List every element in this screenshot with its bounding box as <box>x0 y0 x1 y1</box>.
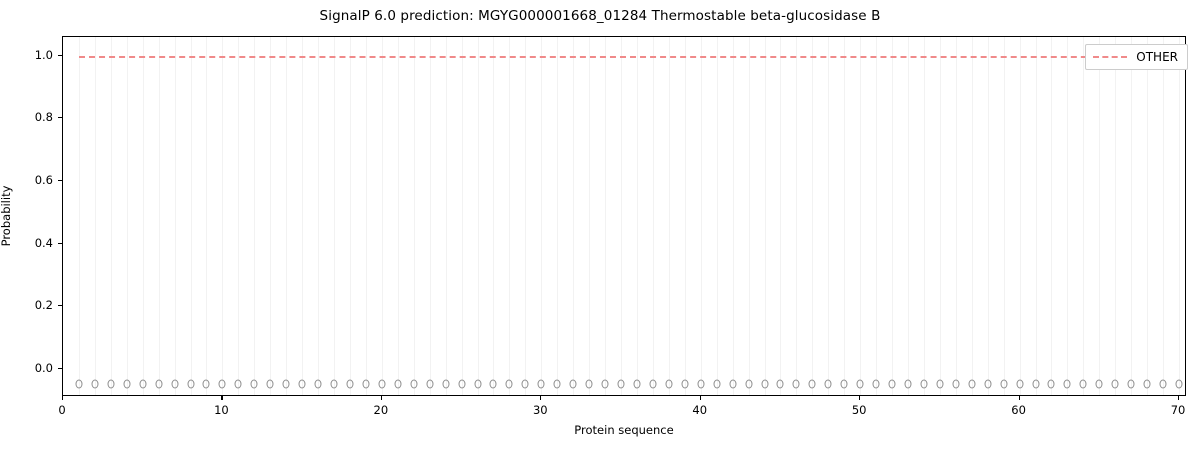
gridline <box>254 37 255 395</box>
residue-label: Y <box>107 393 114 396</box>
residue-label: L <box>172 393 178 396</box>
residue-label: L <box>809 393 815 396</box>
y-tick-label: 0.0 <box>0 361 53 375</box>
gridline <box>557 37 558 395</box>
residue-label: K <box>825 393 832 396</box>
residue-label: G <box>394 393 403 396</box>
residue-label: F <box>458 393 464 396</box>
residue-label: S <box>474 393 481 396</box>
residue-marker <box>1000 380 1007 389</box>
series-line-other <box>79 56 1177 58</box>
gridline <box>222 37 223 395</box>
x-axis-label: Protein sequence <box>62 423 1186 437</box>
residue-marker <box>602 380 609 389</box>
residue-marker <box>745 380 752 389</box>
residue-label: T <box>841 393 848 396</box>
residue-marker <box>1160 380 1167 389</box>
gridline <box>605 37 606 395</box>
residue-label: P <box>984 393 991 396</box>
residue-marker <box>729 380 736 389</box>
x-tick-label: 60 <box>1011 403 1026 417</box>
residue-marker <box>809 380 816 389</box>
gridline <box>509 37 510 395</box>
residue-label: T <box>378 393 385 396</box>
gridline <box>191 37 192 395</box>
gridline <box>589 37 590 395</box>
residue-marker <box>394 380 401 389</box>
residue-marker <box>968 380 975 389</box>
residue-label: L <box>347 393 353 396</box>
residue-label: G <box>649 393 658 396</box>
residue-label: P <box>554 393 561 396</box>
residue-marker <box>538 380 545 389</box>
x-tick-label: 20 <box>374 403 389 417</box>
gridlines <box>63 37 1185 395</box>
gridline <box>95 37 96 395</box>
residue-label: E <box>1176 393 1183 396</box>
residue-label: P <box>761 393 768 396</box>
gridline <box>796 37 797 395</box>
gridline <box>398 37 399 395</box>
residue-label: L <box>618 393 624 396</box>
residue-marker <box>936 380 943 389</box>
residue-marker <box>761 380 768 389</box>
residue-label: Y <box>968 393 975 396</box>
gridline <box>892 37 893 395</box>
gridline <box>1067 37 1068 395</box>
page-title: SignalP 6.0 prediction: MGYG000001668_01… <box>0 8 1200 24</box>
residue-marker <box>920 380 927 389</box>
residue-label: V <box>506 393 514 396</box>
gridline <box>446 37 447 395</box>
residue-marker <box>299 380 306 389</box>
residue-label: K <box>299 393 306 396</box>
residue-marker <box>1016 380 1023 389</box>
residue-label: A <box>490 393 498 396</box>
residue-label: C <box>1095 393 1103 396</box>
residue-label: T <box>251 393 258 396</box>
residue-label: D <box>1143 393 1151 396</box>
gridline <box>1020 37 1021 395</box>
residue-label: K <box>873 393 880 396</box>
gridline <box>1083 37 1084 395</box>
residue-marker <box>984 380 991 389</box>
y-tick-label: 1.0 <box>0 48 53 62</box>
gridline <box>350 37 351 395</box>
gridline <box>143 37 144 395</box>
gridline <box>382 37 383 395</box>
residue-marker <box>315 380 322 389</box>
residue-marker <box>171 380 178 389</box>
y-tick-label: 0.8 <box>0 110 53 124</box>
gridline <box>940 37 941 395</box>
residue-label: A <box>713 393 721 396</box>
residue-marker <box>649 380 656 389</box>
residue-marker <box>219 380 226 389</box>
residue-marker <box>474 380 481 389</box>
gridline <box>956 37 957 395</box>
gridline <box>462 37 463 395</box>
residue-marker <box>426 380 433 389</box>
residue-marker <box>346 380 353 389</box>
gridline <box>79 37 80 395</box>
residue-label: I <box>316 393 319 396</box>
residue-marker <box>1064 380 1071 389</box>
residue-marker <box>681 380 688 389</box>
gridline <box>1051 37 1052 395</box>
residue-marker <box>283 380 290 389</box>
legend-label-other: OTHER <box>1136 50 1178 64</box>
residue-label: Y <box>410 393 417 396</box>
residue-label: E <box>570 393 577 396</box>
residue-marker <box>857 380 864 389</box>
residue-label: E <box>1160 393 1167 396</box>
residue-marker <box>107 380 114 389</box>
residue-label: W <box>1126 393 1137 396</box>
residue-marker <box>665 380 672 389</box>
x-tick-label: 40 <box>692 403 707 417</box>
residue-marker <box>458 380 465 389</box>
residue-marker <box>490 380 497 389</box>
gridline <box>812 37 813 395</box>
residue-marker <box>825 380 832 389</box>
residue-label: E <box>267 393 274 396</box>
residue-label: K <box>123 393 130 396</box>
residue-marker <box>793 380 800 389</box>
residue-marker <box>1048 380 1055 389</box>
x-tick-label: 0 <box>58 403 65 417</box>
residue-label: C <box>952 393 960 396</box>
residue-marker <box>777 380 784 389</box>
gridline <box>637 37 638 395</box>
gridline <box>286 37 287 395</box>
residue-label: L <box>219 393 225 396</box>
gridline <box>717 37 718 395</box>
residue-marker <box>1080 380 1087 389</box>
gridline <box>844 37 845 395</box>
gridline <box>988 37 989 395</box>
residue-marker <box>410 380 417 389</box>
residue-label: N <box>633 393 641 396</box>
x-tick-label: 30 <box>533 403 548 417</box>
residue-marker <box>235 380 242 389</box>
residue-marker <box>586 380 593 389</box>
residue-label: C <box>1032 393 1040 396</box>
residue-label: G <box>441 393 450 396</box>
residue-label: T <box>1064 393 1071 396</box>
gridline <box>1179 37 1180 395</box>
gridline <box>127 37 128 395</box>
gridline <box>685 37 686 395</box>
residue-marker <box>522 380 529 389</box>
gridline <box>238 37 239 395</box>
gridline <box>621 37 622 395</box>
residue-label: E <box>139 393 146 396</box>
residue-marker <box>1128 380 1135 389</box>
residue-label: G <box>744 393 753 396</box>
gridline <box>972 37 973 395</box>
residue-marker <box>1112 380 1119 389</box>
residue-label: K <box>187 393 194 396</box>
x-tick-mark <box>62 396 63 400</box>
gridline <box>765 37 766 395</box>
residue-marker <box>187 380 194 389</box>
gridline <box>669 37 670 395</box>
gridline <box>159 37 160 395</box>
gridline <box>1004 37 1005 395</box>
gridline <box>653 37 654 395</box>
residue-label: L <box>363 393 369 396</box>
residue-marker <box>873 380 880 389</box>
residue-label: G <box>792 393 801 396</box>
gridline <box>175 37 176 395</box>
x-tick-mark <box>700 396 701 400</box>
residue-marker <box>697 380 704 389</box>
residue-label: M <box>74 393 84 396</box>
residue-label: A <box>1080 393 1088 396</box>
x-tick-mark <box>381 396 382 400</box>
residue-label: T <box>331 393 338 396</box>
plot-area: MDYKEKLKELSTEEKITLLTGYDGFSAVNLPEKNLNGIKM… <box>62 36 1186 396</box>
x-tick-mark <box>540 396 541 400</box>
residue-marker <box>506 380 513 389</box>
residue-marker <box>155 380 162 389</box>
residue-label: T <box>921 393 928 396</box>
residue-marker <box>442 380 449 389</box>
gridline <box>1115 37 1116 395</box>
residue-marker <box>904 380 911 389</box>
residue-marker <box>1096 380 1103 389</box>
residue-marker <box>331 380 338 389</box>
residue-label: E <box>283 393 290 396</box>
gridline <box>828 37 829 395</box>
gridline <box>366 37 367 395</box>
legend-swatch-other <box>1093 56 1127 58</box>
gridline <box>908 37 909 395</box>
x-tick-mark <box>221 396 222 400</box>
gridline <box>478 37 479 395</box>
residue-label: P <box>1016 393 1023 396</box>
gridline <box>334 37 335 395</box>
gridline <box>1036 37 1037 395</box>
residue-label: L <box>538 393 544 396</box>
residue-marker <box>570 380 577 389</box>
gridline <box>701 37 702 395</box>
residue-marker <box>139 380 146 389</box>
residue-label: K <box>586 393 593 396</box>
gridline <box>733 37 734 395</box>
residue-marker <box>362 380 369 389</box>
residue-label: N <box>601 393 609 396</box>
residue-marker <box>841 380 848 389</box>
residue-marker <box>952 380 959 389</box>
x-tick-mark <box>1178 396 1179 400</box>
residue-label: M <box>696 393 706 396</box>
residue-marker <box>889 380 896 389</box>
residue-label: D <box>728 393 736 396</box>
residue-label: G <box>888 393 897 396</box>
residue-marker <box>251 380 258 389</box>
gridline <box>318 37 319 395</box>
gridline <box>1163 37 1164 395</box>
residue-marker <box>378 380 385 389</box>
gridline <box>1147 37 1148 395</box>
residue-marker <box>713 380 720 389</box>
residue-marker <box>123 380 130 389</box>
gridline <box>860 37 861 395</box>
gridline <box>206 37 207 395</box>
residue-marker <box>1144 380 1151 389</box>
residue-label: N <box>1000 393 1008 396</box>
residue-label: S <box>1112 393 1119 396</box>
residue-marker <box>203 380 210 389</box>
x-tick-label: 70 <box>1171 403 1186 417</box>
gridline <box>1099 37 1100 395</box>
residue-label: I <box>667 393 670 396</box>
gridline <box>749 37 750 395</box>
residue-marker <box>91 380 98 389</box>
residue-label: V <box>936 393 944 396</box>
x-tick-label: 50 <box>852 403 867 417</box>
residue-label: L <box>1048 393 1054 396</box>
y-tick-label: 0.2 <box>0 298 53 312</box>
residue-label: D <box>425 393 433 396</box>
residue-label: N <box>521 393 529 396</box>
residue-label: D <box>904 393 912 396</box>
gridline <box>876 37 877 395</box>
residue-marker <box>633 380 640 389</box>
gridline <box>493 37 494 395</box>
residue-label: E <box>203 393 210 396</box>
gridline <box>1131 37 1132 395</box>
y-axis-label: Probability <box>0 186 13 247</box>
gridline <box>525 37 526 395</box>
signalp-prediction-figure: SignalP 6.0 prediction: MGYG000001668_01… <box>0 0 1200 450</box>
residue-label: Y <box>777 393 784 396</box>
gridline <box>573 37 574 395</box>
residue-marker <box>75 380 82 389</box>
gridline <box>924 37 925 395</box>
residue-marker <box>267 380 274 389</box>
legend: OTHER <box>1085 44 1188 70</box>
residue-label: K <box>155 393 162 396</box>
gridline <box>541 37 542 395</box>
residue-label: K <box>857 393 864 396</box>
x-tick-mark <box>859 396 860 400</box>
x-tick-mark <box>1019 396 1020 400</box>
residue-marker <box>618 380 625 389</box>
residue-label: S <box>235 393 242 396</box>
residue-label: K <box>681 393 688 396</box>
gridline <box>430 37 431 395</box>
gridline <box>270 37 271 395</box>
gridline <box>111 37 112 395</box>
residue-marker <box>1176 380 1183 389</box>
gridline <box>302 37 303 395</box>
residue-marker <box>554 380 561 389</box>
residue-marker <box>1032 380 1039 389</box>
gridline <box>780 37 781 395</box>
residue-label: D <box>91 393 99 396</box>
gridline <box>414 37 415 395</box>
x-tick-label: 10 <box>214 403 229 417</box>
